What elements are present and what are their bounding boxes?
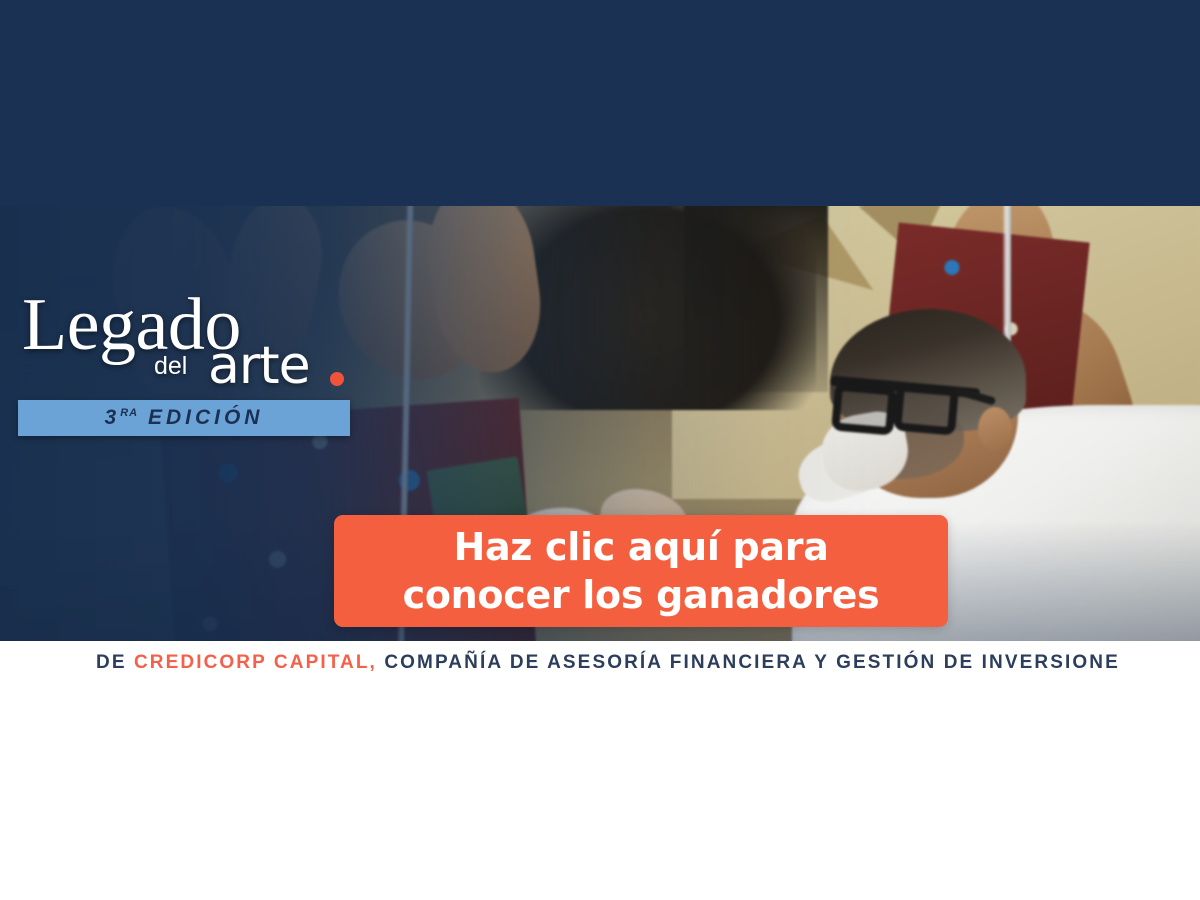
legado-del-arte-logo: Legado del arte 3RA EDICIÓN [18,288,358,396]
edition-word: EDICIÓN [148,406,264,429]
hero-banner[interactable]: Legado del arte 3RA EDICIÓN Haz clic aqu… [0,0,1200,641]
banner-ad: Legado del arte 3RA EDICIÓN Haz clic aqu… [0,0,1200,900]
hero-top-navy-band [0,0,1200,206]
edition-number: 3 [105,406,121,429]
cta-winners-button[interactable]: Haz clic aquí para conocer los ganadores [334,515,948,627]
legal-prefix: DE [96,652,134,673]
logo-word-arte: arte [208,340,310,392]
edition-ordinal: RA [120,407,138,419]
legal-descriptor-strip: DE CREDICORP CAPITAL, COMPAÑÍA DE ASESOR… [0,641,1200,701]
logo-edition-label: 3RA EDICIÓN [105,406,264,430]
cta-line-2: conocer los ganadores [403,571,880,619]
legal-descriptor-text: DE CREDICORP CAPITAL, COMPAÑÍA DE ASESOR… [96,650,1120,676]
logo-edition-band: 3RA EDICIÓN [18,400,350,436]
legal-suffix: COMPAÑÍA DE ASESORÍA FINANCIERA Y GESTIÓ… [377,652,1120,673]
logo-orange-dot-icon [330,372,344,386]
cta-line-1: Haz clic aquí para [453,523,828,571]
logo-wordmark: Legado del arte [18,288,358,396]
logo-word-del: del [154,354,187,379]
page-blank-area [0,701,1200,900]
legal-brand-name: CREDICORP CAPITAL, [134,652,377,673]
